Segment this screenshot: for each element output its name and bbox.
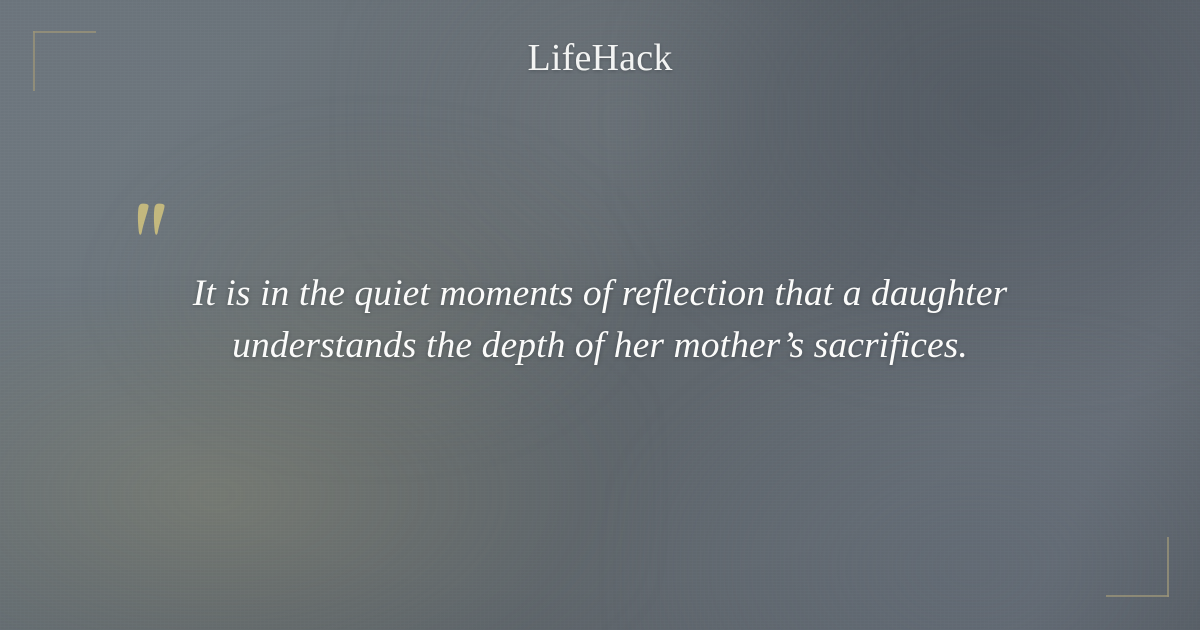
- quote-line: It is in the quiet moments of reflection…: [100, 268, 1100, 320]
- quote-card: LifeHack It is in the quiet moments of r…: [0, 0, 1200, 630]
- quote-text: It is in the quiet moments of reflection…: [100, 268, 1100, 372]
- quote-line: understands the depth of her mother’s sa…: [100, 320, 1100, 372]
- brand-logo: LifeHack: [0, 39, 1200, 77]
- double-quote-mark-icon: [136, 203, 176, 239]
